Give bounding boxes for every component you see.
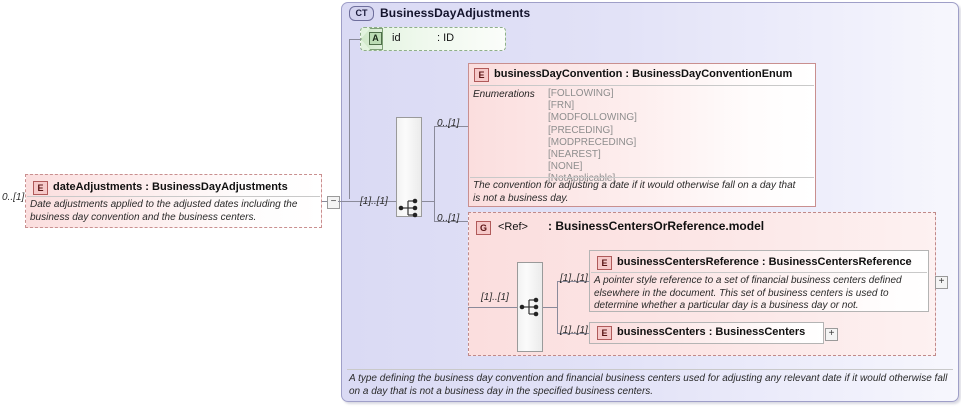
business-centers-reference-title: businessCentersReference : BusinessCente… [617, 256, 912, 268]
divider [470, 85, 814, 86]
expand-icon: + [829, 329, 835, 339]
date-adjustments-title: dateAdjustments : BusinessDayAdjustments [53, 181, 288, 193]
element-badge: E [33, 181, 48, 195]
business-centers-reference-cardinality: [1]..[1] [560, 273, 588, 284]
attribute-badge: A [369, 32, 382, 45]
collapse-toggle-date-adjustments[interactable]: − [327, 196, 340, 209]
business-day-convention-documentation: The convention for adjusting a date if i… [473, 180, 805, 205]
business-day-convention-title: businessDayConvention : BusinessDayConve… [494, 68, 792, 80]
complex-type-header: CT BusinessDayAdjustments [349, 5, 530, 21]
comp1-stub [422, 201, 434, 202]
complex-type-documentation: A type defining the business day convent… [349, 373, 949, 398]
comp2-stub [543, 307, 557, 308]
ct-badge: CT [349, 6, 374, 21]
attr-connector-horizontal [349, 39, 361, 40]
attribute-type: : ID [437, 32, 454, 44]
complex-type-name: BusinessDayAdjustments [380, 6, 530, 20]
divider [347, 369, 953, 370]
enumerations-label: Enumerations [473, 89, 535, 100]
group-to-comp2 [468, 307, 517, 308]
expand-toggle-business-centers[interactable]: + [825, 328, 838, 341]
attribute-name: id [392, 32, 401, 44]
expand-icon: + [939, 277, 945, 287]
group-ref-type: : BusinessCentersOrReference.model [548, 220, 808, 233]
element-badge: E [597, 256, 612, 270]
business-centers-title: businessCenters : BusinessCenters [617, 326, 805, 338]
enumerations-values: [FOLLOWING] [FRN] [MODFOLLOWING] [PRECED… [548, 88, 637, 186]
element-badge: E [474, 68, 489, 82]
sequence-icon [519, 297, 541, 317]
divider [591, 272, 927, 273]
date-adjustments-cardinality: 0..[1] [2, 192, 24, 203]
divider [470, 177, 814, 178]
divider [27, 196, 320, 197]
group-badge: G [476, 221, 491, 235]
group-ref-cardinality: 0..[1] [437, 213, 459, 224]
business-centers-cardinality: [1]..[1] [560, 325, 588, 336]
element-badge: E [597, 326, 612, 340]
attr-connector-vertical [349, 39, 350, 199]
sequence-icon [398, 198, 420, 218]
business-day-convention-cardinality: 0..[1] [437, 118, 459, 129]
collapse-icon: − [331, 197, 337, 207]
comp2-branch-vertical [557, 281, 558, 333]
group-ref-label: <Ref> [498, 221, 528, 233]
compositor-2-cardinality: [1]..[1] [481, 292, 509, 303]
comp1-branch-vertical [434, 126, 435, 221]
compositor-1-cardinality: [1]..[1] [360, 196, 388, 207]
date-adjustments-documentation: Date adjustments applied to the adjusted… [30, 199, 314, 224]
business-centers-reference-documentation: A pointer style reference to a set of fi… [594, 275, 920, 313]
expand-toggle-business-centers-reference[interactable]: + [935, 276, 948, 289]
